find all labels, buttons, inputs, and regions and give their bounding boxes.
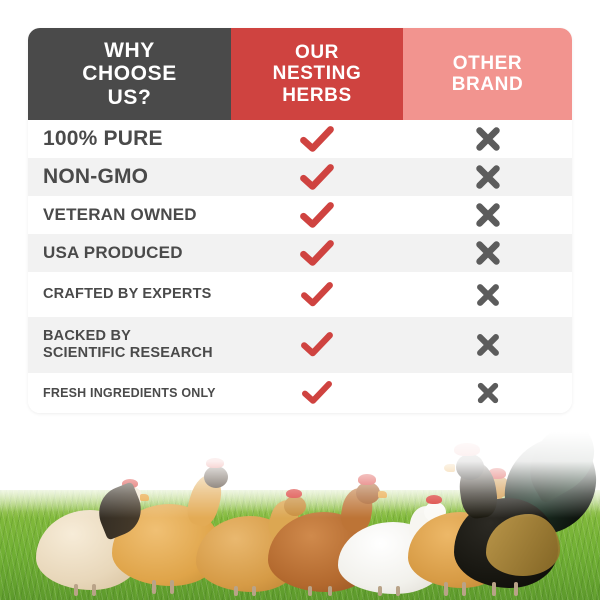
column-header-ours-line3: HERBS bbox=[273, 85, 362, 106]
column-header-ours-line1: OUR bbox=[273, 42, 362, 63]
cell-ours-check-icon bbox=[231, 281, 403, 308]
table-row: CRAFTED BY EXPERTS bbox=[28, 272, 572, 317]
table-row: VETERAN OWNED bbox=[28, 196, 572, 234]
cell-other-cross-icon bbox=[403, 162, 572, 192]
cell-other-cross-icon bbox=[403, 331, 572, 359]
column-header-our-nesting-herbs: OUR NESTING HERBS bbox=[231, 28, 403, 120]
cell-other-cross-icon bbox=[403, 238, 572, 268]
table-header-row: WHY CHOOSE US? OUR NESTING HERBS OTHER B… bbox=[28, 28, 572, 120]
row-label: NON-GMO bbox=[28, 165, 231, 189]
column-header-other-line1: OTHER bbox=[452, 53, 524, 74]
row-label: 100% PURE bbox=[28, 127, 231, 151]
row-label: FRESH INGREDIENTS ONLY bbox=[28, 386, 231, 400]
cell-ours-check-icon bbox=[231, 239, 403, 268]
cell-ours-check-icon bbox=[231, 163, 403, 192]
row-label-line1: FRESH INGREDIENTS ONLY bbox=[43, 386, 225, 400]
cell-ours-check-icon bbox=[231, 380, 403, 406]
comparison-table: WHY CHOOSE US? OUR NESTING HERBS OTHER B… bbox=[28, 28, 572, 413]
row-label-line1: VETERAN OWNED bbox=[43, 205, 225, 224]
table-row: NON-GMO bbox=[28, 158, 572, 196]
row-label: VETERAN OWNED bbox=[28, 205, 231, 224]
cell-ours-check-icon bbox=[231, 331, 403, 358]
cell-other-cross-icon bbox=[403, 380, 572, 406]
table-body: 100% PURENON-GMOVETERAN OWNEDUSA PRODUCE… bbox=[28, 120, 572, 413]
cell-other-cross-icon bbox=[403, 124, 572, 154]
column-header-reason: WHY CHOOSE US? bbox=[28, 28, 231, 120]
table-row: BACKED BYSCIENTIFIC RESEARCH bbox=[28, 317, 572, 373]
column-header-reason-line2: CHOOSE bbox=[82, 62, 177, 86]
row-label-line1: CRAFTED BY EXPERTS bbox=[43, 286, 225, 303]
row-label-line1: USA PRODUCED bbox=[43, 243, 225, 262]
row-label: BACKED BYSCIENTIFIC RESEARCH bbox=[28, 328, 231, 361]
table-row: USA PRODUCED bbox=[28, 234, 572, 272]
row-label: CRAFTED BY EXPERTS bbox=[28, 286, 231, 303]
row-label-line1: 100% PURE bbox=[43, 127, 225, 151]
column-header-other-line2: BRAND bbox=[452, 74, 524, 95]
table-row: FRESH INGREDIENTS ONLY bbox=[28, 373, 572, 413]
cell-ours-check-icon bbox=[231, 201, 403, 230]
row-label-line2: SCIENTIFIC RESEARCH bbox=[43, 345, 225, 362]
column-header-ours-line2: NESTING bbox=[273, 63, 362, 84]
cell-other-cross-icon bbox=[403, 281, 572, 309]
column-header-other-brand: OTHER BRAND bbox=[403, 28, 572, 120]
column-header-reason-line3: US? bbox=[82, 86, 177, 110]
rooster-black-right bbox=[446, 444, 600, 596]
row-label-line1: NON-GMO bbox=[43, 165, 225, 189]
row-label-line1: BACKED BY bbox=[43, 328, 225, 345]
column-header-reason-line1: WHY bbox=[82, 39, 177, 63]
cell-other-cross-icon bbox=[403, 200, 572, 230]
chickens-on-grass-photo bbox=[0, 432, 600, 600]
row-label: USA PRODUCED bbox=[28, 243, 231, 262]
table-row: 100% PURE bbox=[28, 120, 572, 158]
cell-ours-check-icon bbox=[231, 125, 403, 154]
